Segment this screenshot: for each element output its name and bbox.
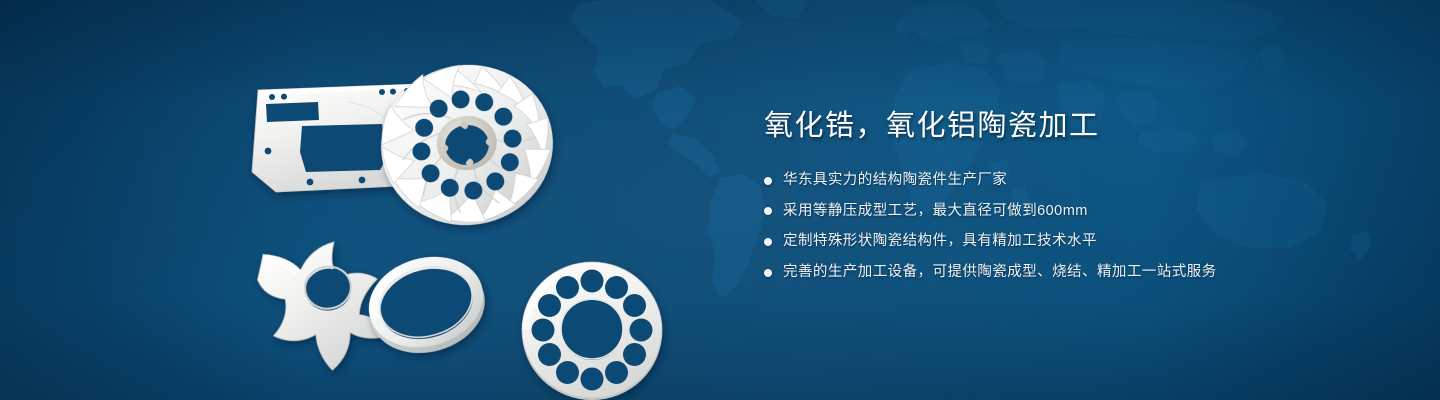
ceramic-impeller (371, 54, 564, 236)
bullet-text: 华东具实力的结构陶瓷件生产厂家 (783, 171, 1007, 191)
bullet-dot-icon (764, 177, 772, 185)
bullet-text: 定制特殊形状陶瓷结构件，具有精加工技术水平 (783, 232, 1097, 252)
list-item: 定制特殊形状陶瓷结构件，具有精加工技术水平 (764, 232, 1384, 252)
bullet-text: 采用等静压成型工艺，最大直径可做到600mm (783, 202, 1088, 222)
bullet-dot-icon (764, 238, 772, 246)
ceramic-products-photo (230, 40, 690, 370)
list-item: 华东具实力的结构陶瓷件生产厂家 (764, 171, 1384, 191)
ceramic-perforated-disc (522, 262, 662, 400)
bullet-text: 完善的生产加工设备，可提供陶瓷成型、烧结、精加工一站式服务 (783, 263, 1217, 283)
bullet-dot-icon (764, 269, 772, 277)
banner-copy-block: 氧化锆，氧化铝陶瓷加工 华东具实力的结构陶瓷件生产厂家 采用等静压成型工艺，最大… (764, 108, 1384, 282)
bullet-dot-icon (764, 207, 772, 215)
banner-feature-list: 华东具实力的结构陶瓷件生产厂家 采用等静压成型工艺，最大直径可做到600mm 定… (764, 171, 1384, 282)
ceramic-processing-banner: 氧化锆，氧化铝陶瓷加工 华东具实力的结构陶瓷件生产厂家 采用等静压成型工艺，最大… (0, 0, 1440, 400)
banner-headline: 氧化锆，氧化铝陶瓷加工 (764, 108, 1384, 145)
list-item: 采用等静压成型工艺，最大直径可做到600mm (764, 202, 1384, 222)
ceramic-ring (358, 244, 495, 366)
list-item: 完善的生产加工设备，可提供陶瓷成型、烧结、精加工一站式服务 (764, 263, 1384, 283)
